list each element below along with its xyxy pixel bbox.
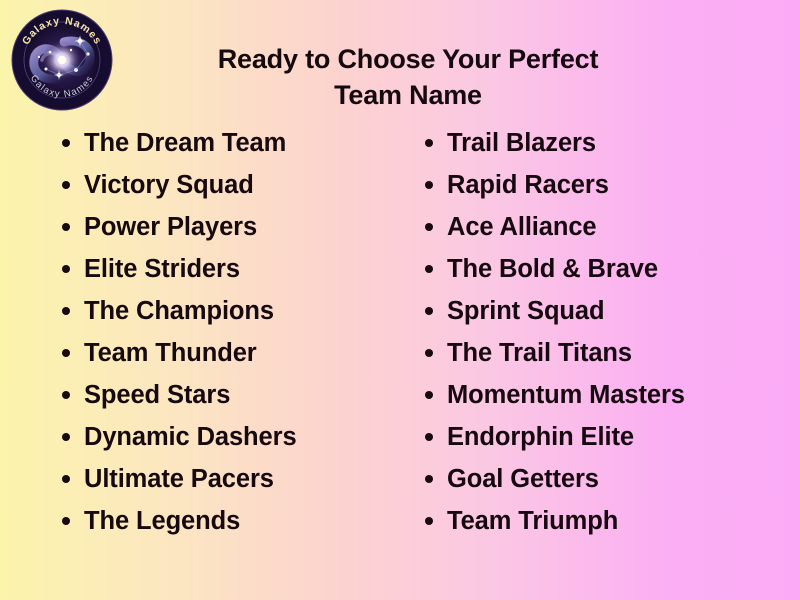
list-item-label: Rapid Racers [447,171,609,199]
list-item-label: Endorphin Elite [447,423,634,451]
bullet-icon [425,349,433,357]
bullet-icon [62,139,70,147]
list-item: Dynamic Dashers [58,416,400,458]
galaxy-logo-svg: Galaxy Names Galaxy Names [10,8,114,112]
list-item: Momentum Masters [421,374,800,416]
list-item: Elite Striders [58,248,400,290]
list-item: The Champions [58,290,400,332]
list-item-label: The Legends [84,507,240,535]
page-title: Ready to Choose Your Perfect Team Name [128,42,688,114]
list-item-label: Trail Blazers [447,129,596,157]
list-item-label: Team Thunder [84,339,257,367]
bullet-icon [62,349,70,357]
bullet-icon [425,391,433,399]
list-item-label: Victory Squad [84,171,254,199]
bullet-icon [62,517,70,525]
list-item: The Legends [58,500,400,542]
list-item: Ace Alliance [421,206,800,248]
galaxy-names-logo: Galaxy Names Galaxy Names [10,8,114,112]
right-team-name-list: Trail Blazers Rapid Racers Ace Alliance … [400,122,800,542]
list-item-label: Speed Stars [84,381,230,409]
bullet-icon [62,265,70,273]
list-item-label: Ace Alliance [447,213,597,241]
bullet-icon [62,391,70,399]
list-item: Power Players [58,206,400,248]
list-item: Team Triumph [421,500,800,542]
bullet-icon [62,181,70,189]
title-line-2: Team Name [128,78,688,114]
bullet-icon [62,475,70,483]
left-team-name-list: The Dream Team Victory Squad Power Playe… [0,122,400,542]
list-item: Ultimate Pacers [58,458,400,500]
list-item-label: The Champions [84,297,274,325]
list-item-label: The Bold & Brave [447,255,658,283]
bullet-icon [425,475,433,483]
bullet-icon [425,307,433,315]
list-item-label: Momentum Masters [447,381,685,409]
bullet-icon [425,139,433,147]
bullet-icon [425,181,433,189]
list-item-label: Dynamic Dashers [84,423,297,451]
bullet-icon [62,223,70,231]
list-item: The Dream Team [58,122,400,164]
title-line-1: Ready to Choose Your Perfect [128,42,688,78]
list-item-label: Team Triumph [447,507,618,535]
list-item: Speed Stars [58,374,400,416]
list-item-label: Elite Striders [84,255,240,283]
list-item: Trail Blazers [421,122,800,164]
list-item: Sprint Squad [421,290,800,332]
list-item-label: Goal Getters [447,465,599,493]
list-item: Goal Getters [421,458,800,500]
list-item-label: Sprint Squad [447,297,604,325]
list-item-label: Ultimate Pacers [84,465,274,493]
list-item: Endorphin Elite [421,416,800,458]
list-item: Victory Squad [58,164,400,206]
list-item-label: Power Players [84,213,257,241]
list-item-label: The Trail Titans [447,339,632,367]
list-item: Rapid Racers [421,164,800,206]
list-item: Team Thunder [58,332,400,374]
bullet-icon [62,433,70,441]
bullet-icon [425,517,433,525]
poster-canvas: Galaxy Names Galaxy Names Ready to Choos… [0,0,800,600]
bullet-icon [62,307,70,315]
list-item-label: The Dream Team [84,129,286,157]
list-item: The Trail Titans [421,332,800,374]
bullet-icon [425,433,433,441]
list-item: The Bold & Brave [421,248,800,290]
team-name-lists: The Dream Team Victory Squad Power Playe… [0,122,800,592]
bullet-icon [425,223,433,231]
bullet-icon [425,265,433,273]
